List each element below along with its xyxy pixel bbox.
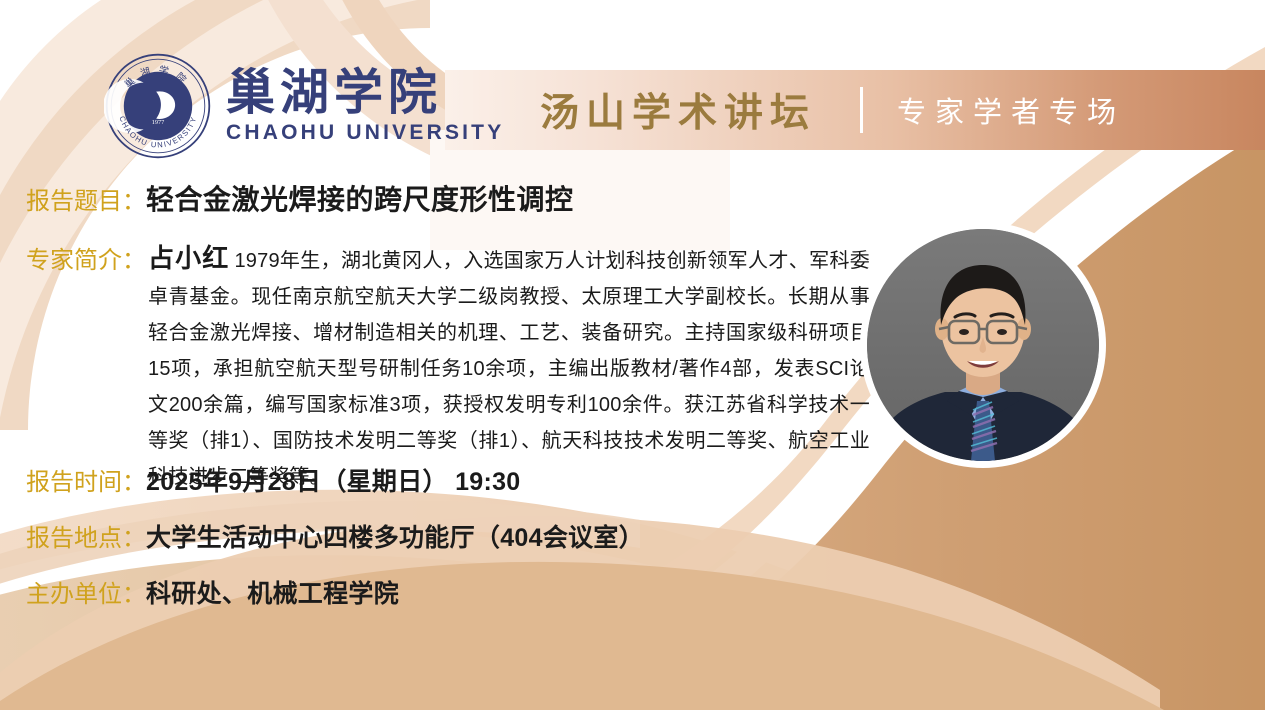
speaker-name: 占小红	[148, 243, 229, 273]
field-title-value: 轻合金激光焊接的跨尺度形性调控	[146, 178, 574, 218]
event-banner: 汤山学术讲坛 专家学者专场	[445, 70, 1265, 150]
banner-divider	[860, 87, 863, 133]
field-host-label: 主办单位：	[26, 574, 146, 609]
field-title-label: 报告题目：	[26, 181, 146, 216]
field-title-row: 报告题目： 轻合金激光焊接的跨尺度形性调控	[26, 178, 574, 218]
field-host-row: 主办单位： 科研处、机械工程学院	[26, 574, 399, 610]
field-bio-text: 占小红1979年生，湖北黄冈人，入选国家万人计划科技创新领军人才、军科委卓青基金…	[148, 240, 870, 495]
field-time-label: 报告时间：	[26, 462, 146, 497]
logo-wordmark: 巢湖学院 CHAOHU UNIVERSITY	[226, 67, 504, 145]
svg-text:1977: 1977	[152, 119, 165, 126]
field-time-row: 报告时间： 2025年9月28日（星期日） 19:30	[26, 462, 521, 498]
speaker-portrait	[867, 229, 1099, 461]
banner-subtitle: 专家学者专场	[897, 89, 1125, 131]
logo-name-cn: 巢湖学院	[226, 67, 504, 118]
poster-canvas: 汤山学术讲坛 专家学者专场 1977 CHAOHU UNIVERSITY	[0, 0, 1265, 710]
field-time-value: 2025年9月28日（星期日） 19:30	[146, 462, 521, 498]
logo-name-en: CHAOHU UNIVERSITY	[226, 121, 504, 145]
university-logo: 1977 CHAOHU UNIVERSITY 巢湖学院 巢湖学院 CHAOHU …	[104, 52, 504, 160]
field-place-value: 大学生活动中心四楼多功能厅（404会议室）	[146, 518, 644, 554]
field-place-label: 报告地点：	[26, 518, 146, 553]
speaker-bio-paragraph: 1979年生，湖北黄冈人，入选国家万人计划科技创新领军人才、军科委卓青基金。现任…	[148, 250, 870, 488]
field-host-value: 科研处、机械工程学院	[146, 574, 399, 610]
university-seal-icon: 1977 CHAOHU UNIVERSITY 巢湖学院	[104, 52, 212, 160]
banner-main-title: 汤山学术讲坛	[540, 82, 816, 138]
field-bio-label-row: 专家简介：	[26, 240, 146, 275]
field-place-row: 报告地点： 大学生活动中心四楼多功能厅（404会议室）	[26, 518, 644, 554]
field-bio-label: 专家简介：	[26, 240, 146, 275]
